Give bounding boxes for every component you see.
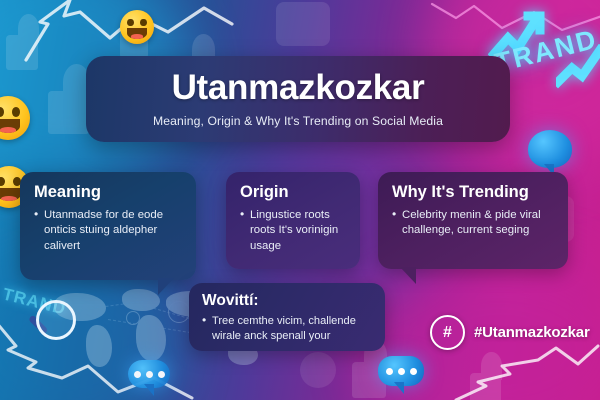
page-title: Utanmazkozkar [172,70,425,105]
thumbs-up-icon [6,14,52,70]
card-meaning: Meaning Utanmadse for de eode onticis st… [20,172,196,280]
card-wovitti-heading: Wovittí: [202,293,372,309]
decor-square [276,2,330,46]
smiley-emoji-icon [120,10,154,44]
list-item: Tree cemthe vicim, challende wirale anck… [202,314,372,344]
card-origin: Origin Lingustice roots roots It's vorin… [226,172,360,269]
card-wovitti-bullets: Tree cemthe vicim, challende wirale anck… [202,314,372,344]
chat-bubble-icon [128,360,170,388]
title-banner: Utanmazkozkar Meaning, Origin & Why It's… [86,56,510,142]
decor-circle [300,352,336,388]
lightning-bolt-icon [452,344,600,400]
smiley-emoji-icon [0,96,30,140]
thumbs-up-icon [470,352,514,400]
card-wovitti: Wovittí: Tree cemthe vicim, challende wi… [189,283,385,351]
list-item: Celebrity menin & pide viral challenge, … [392,208,554,238]
chat-bubble-icon [528,130,572,168]
list-item: Lingustice roots roots It's vorinigin us… [240,208,346,253]
hash-icon: # [430,315,465,350]
lightning-bolt-icon [430,0,600,54]
card-meaning-heading: Meaning [34,184,182,201]
hashtag-label: #Utanmazkozkar [474,324,590,341]
card-origin-bullets: Lingustice roots roots It's vorinigin us… [240,208,346,253]
card-meaning-bullets: Utanmadse for de eode onticis stuing ald… [34,208,182,253]
map-node-icon [168,301,190,323]
trend-arrow-icon [488,8,554,62]
chat-bubble-icon [378,356,424,386]
hashtag-badge: # #Utanmazkozkar [430,315,590,350]
infographic-poster: TRAND TRAND [0,0,600,400]
speech-tail [158,278,174,295]
card-trending: Why It's Trending Celebrity menin & pide… [378,172,568,269]
magnifying-glass-icon [36,300,76,340]
page-subtitle: Meaning, Origin & Why It's Trending on S… [153,114,443,128]
card-origin-heading: Origin [240,184,346,201]
card-trending-heading: Why It's Trending [392,184,554,201]
speech-tail [400,267,416,284]
trend-arrow-icon [556,44,600,90]
thumbs-up-icon [120,10,160,58]
trend-word-ghost-label: TRAND [1,284,68,319]
card-trending-bullets: Celebrity menin & pide viral challenge, … [392,208,554,238]
lightning-bolt-icon [18,0,248,64]
map-node-icon [126,311,140,325]
list-item: Utanmadse for de eode onticis stuing ald… [34,208,182,253]
lightning-bolt-icon [0,316,202,400]
